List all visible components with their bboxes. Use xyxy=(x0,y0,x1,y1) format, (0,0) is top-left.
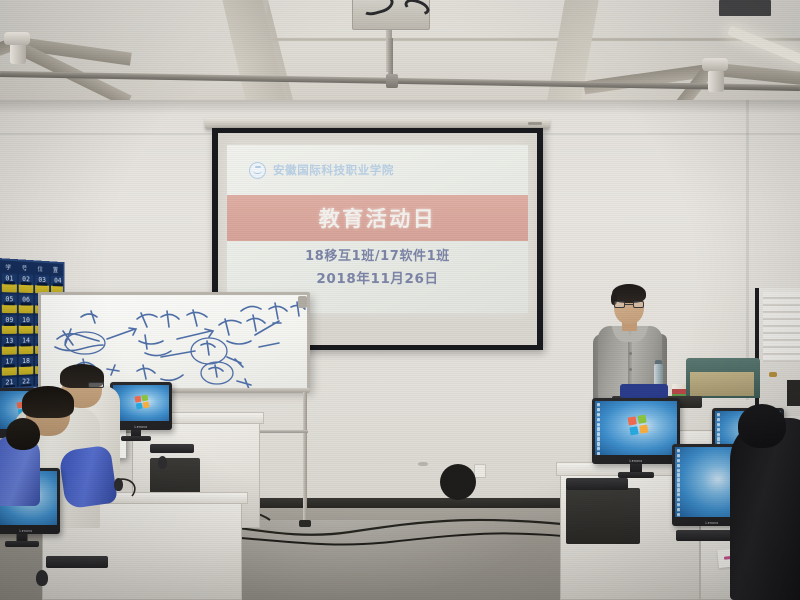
desktop-icon[interactable] xyxy=(597,432,600,435)
slide-subtitle-date: 2018年11月26日 xyxy=(227,267,528,287)
desktop-icon[interactable] xyxy=(717,418,720,421)
desktop-icon[interactable] xyxy=(597,442,600,445)
desktop-icon[interactable] xyxy=(677,488,680,491)
pocket-chart-slot xyxy=(21,282,32,285)
pocket-chart-slot xyxy=(4,281,15,284)
fan-motor xyxy=(10,42,26,64)
monitor-brand: Lenovo xyxy=(20,529,33,533)
pocket-chart-header-mark: 学 xyxy=(5,262,11,271)
desktop-icon[interactable] xyxy=(677,508,680,511)
cabinet-knob xyxy=(769,372,777,377)
screen-housing-label xyxy=(528,122,542,125)
pocket-chart-header-mark: 置 xyxy=(53,265,58,274)
monitor-screen[interactable] xyxy=(595,401,677,455)
desktop-icon-grid[interactable] xyxy=(677,449,680,517)
desktop-icon[interactable] xyxy=(677,464,680,467)
monitor-screen[interactable] xyxy=(113,385,169,421)
wall-top-shadow xyxy=(0,100,800,114)
desktop-icon[interactable] xyxy=(677,513,680,516)
glasses-bridge xyxy=(625,304,633,305)
pocket-chart-slot xyxy=(37,283,48,286)
glasses-lens xyxy=(633,301,644,308)
student-hair xyxy=(6,418,40,450)
monitor-stand-base xyxy=(121,436,151,441)
desktop-icon[interactable] xyxy=(717,413,720,416)
pocket-chart-slot xyxy=(4,302,15,305)
pocket-chart-cell: 10 xyxy=(19,315,34,334)
desktop-icon[interactable] xyxy=(677,503,680,506)
pocket-chart-header-mark: 号 xyxy=(22,263,27,272)
university-name: 安徽国际科技职业学院 xyxy=(273,162,394,178)
desktop-icon[interactable] xyxy=(597,418,600,421)
ceiling-edge-line xyxy=(262,38,800,41)
pocket-chart-cell: 01 xyxy=(2,273,17,292)
student-hood xyxy=(738,404,786,448)
monitor-podium[interactable]: Lenovo xyxy=(592,398,680,464)
desktop-icon[interactable] xyxy=(717,437,720,440)
mouse-cable xyxy=(112,476,152,502)
wall-corner-right xyxy=(746,100,749,400)
slide-header: 安徽国际科技职业学院 xyxy=(227,145,528,195)
desktop-icon[interactable] xyxy=(597,413,600,416)
desk-right-cpu-slot xyxy=(566,488,640,544)
slide-subtitle: 18移互1班/17软件1班 2018年11月26日 xyxy=(227,245,528,287)
conduit-joint xyxy=(386,74,398,88)
pocket-chart-cell: 02 xyxy=(19,274,34,293)
pocket-chart-slot xyxy=(21,323,32,326)
projected-slide: 安徽国际科技职业学院 教育活动日 18移互1班/17软件1班 2018年11月2… xyxy=(227,145,528,313)
pocket-chart-slot xyxy=(21,364,32,367)
pocket-chart-slot xyxy=(4,364,15,367)
classroom-scene: 安徽国际科技职业学院 教育活动日 18移互1班/17软件1班 2018年11月2… xyxy=(0,0,800,600)
pocket-chart-cell: 06 xyxy=(19,295,34,314)
fan-hub xyxy=(702,58,728,71)
pocket-chart-slot xyxy=(21,302,32,305)
whiteboard-clip xyxy=(298,296,307,308)
presenter-shirt-button xyxy=(629,352,632,355)
mouse[interactable] xyxy=(36,570,48,586)
desktop-icon[interactable] xyxy=(597,427,600,430)
monitor-brand: Lenovo xyxy=(135,425,148,429)
fan-motor xyxy=(708,70,724,92)
windows-logo-icon xyxy=(135,394,150,409)
whiteboard-foot xyxy=(299,520,311,527)
fan-hub xyxy=(4,32,30,45)
glasses-lens xyxy=(614,301,625,308)
right-wall-cabinet xyxy=(755,288,800,416)
glasses-icon xyxy=(614,301,644,308)
desktop-icon[interactable] xyxy=(677,483,680,486)
keyboard[interactable] xyxy=(46,556,108,568)
university-crest-icon xyxy=(249,162,266,179)
cabinet-slats xyxy=(763,292,800,362)
windows-logo-icon xyxy=(627,414,648,435)
desktop-icon-grid[interactable] xyxy=(597,403,600,455)
desktop-icon[interactable] xyxy=(677,459,680,462)
pocket-chart-slot xyxy=(4,344,15,347)
desktop-icon[interactable] xyxy=(597,403,600,406)
whiteboard-leg xyxy=(303,392,307,522)
student-blue-sleeve xyxy=(58,445,118,510)
desktop-icon[interactable] xyxy=(597,447,600,450)
pocket-chart-header-mark: 位 xyxy=(38,264,43,273)
wall-scuff xyxy=(418,462,428,466)
pocket-chart-cell: 14 xyxy=(19,336,34,355)
monitor-bezel: Lenovo xyxy=(592,398,680,464)
desktop-icon[interactable] xyxy=(597,408,600,411)
teacher-desk-front-panel xyxy=(690,372,754,396)
desktop-icon[interactable] xyxy=(677,449,680,452)
desktop-icon[interactable] xyxy=(677,493,680,496)
pocket-chart-cell: 17 xyxy=(2,356,17,375)
pocket-chart-slot xyxy=(53,283,63,286)
pocket-chart-cell: 03 xyxy=(35,275,49,294)
desktop-icon[interactable] xyxy=(677,473,680,476)
slide-title-band: 教育活动日 xyxy=(227,195,528,241)
desktop-icon[interactable] xyxy=(677,498,680,501)
podium-cloth xyxy=(620,384,668,398)
monitor-brand: Lenovo xyxy=(706,521,719,525)
pocket-chart-slot xyxy=(21,343,32,346)
desktop-icon[interactable] xyxy=(717,423,720,426)
keyboard[interactable] xyxy=(566,478,628,490)
slide-subtitle-classes: 18移互1班/17软件1班 xyxy=(227,245,528,264)
slide-title: 教育活动日 xyxy=(319,203,437,233)
pocket-chart-slot xyxy=(4,323,15,326)
pocket-chart-cell: 05 xyxy=(2,294,17,313)
desktop-icon[interactable] xyxy=(597,423,600,426)
mouse[interactable] xyxy=(158,456,167,469)
monitor-stand-base xyxy=(5,541,39,547)
projector-lens-plate xyxy=(719,0,771,16)
desktop-icon[interactable] xyxy=(717,433,720,436)
desktop-icon[interactable] xyxy=(677,454,680,457)
presenter-shirt-button xyxy=(629,368,632,371)
keyboard[interactable] xyxy=(676,530,732,541)
wall-power-outlet xyxy=(474,464,486,478)
student-hair xyxy=(22,386,74,418)
pocket-chart-cell: 13 xyxy=(2,336,17,355)
pocket-chart-cell: 18 xyxy=(19,356,34,375)
monitor-brand: Lenovo xyxy=(630,459,643,463)
chair-seat xyxy=(440,464,476,500)
cabinet-opening xyxy=(787,380,800,406)
keyboard[interactable] xyxy=(150,444,194,453)
desktop-icon[interactable] xyxy=(677,469,680,472)
glasses-icon xyxy=(88,382,104,388)
desktop-icon[interactable] xyxy=(677,478,680,481)
desktop-icon[interactable] xyxy=(597,437,600,440)
desktop-icon[interactable] xyxy=(597,452,600,455)
desktop-icon[interactable] xyxy=(717,428,720,431)
pocket-chart-cell: 09 xyxy=(2,315,17,334)
